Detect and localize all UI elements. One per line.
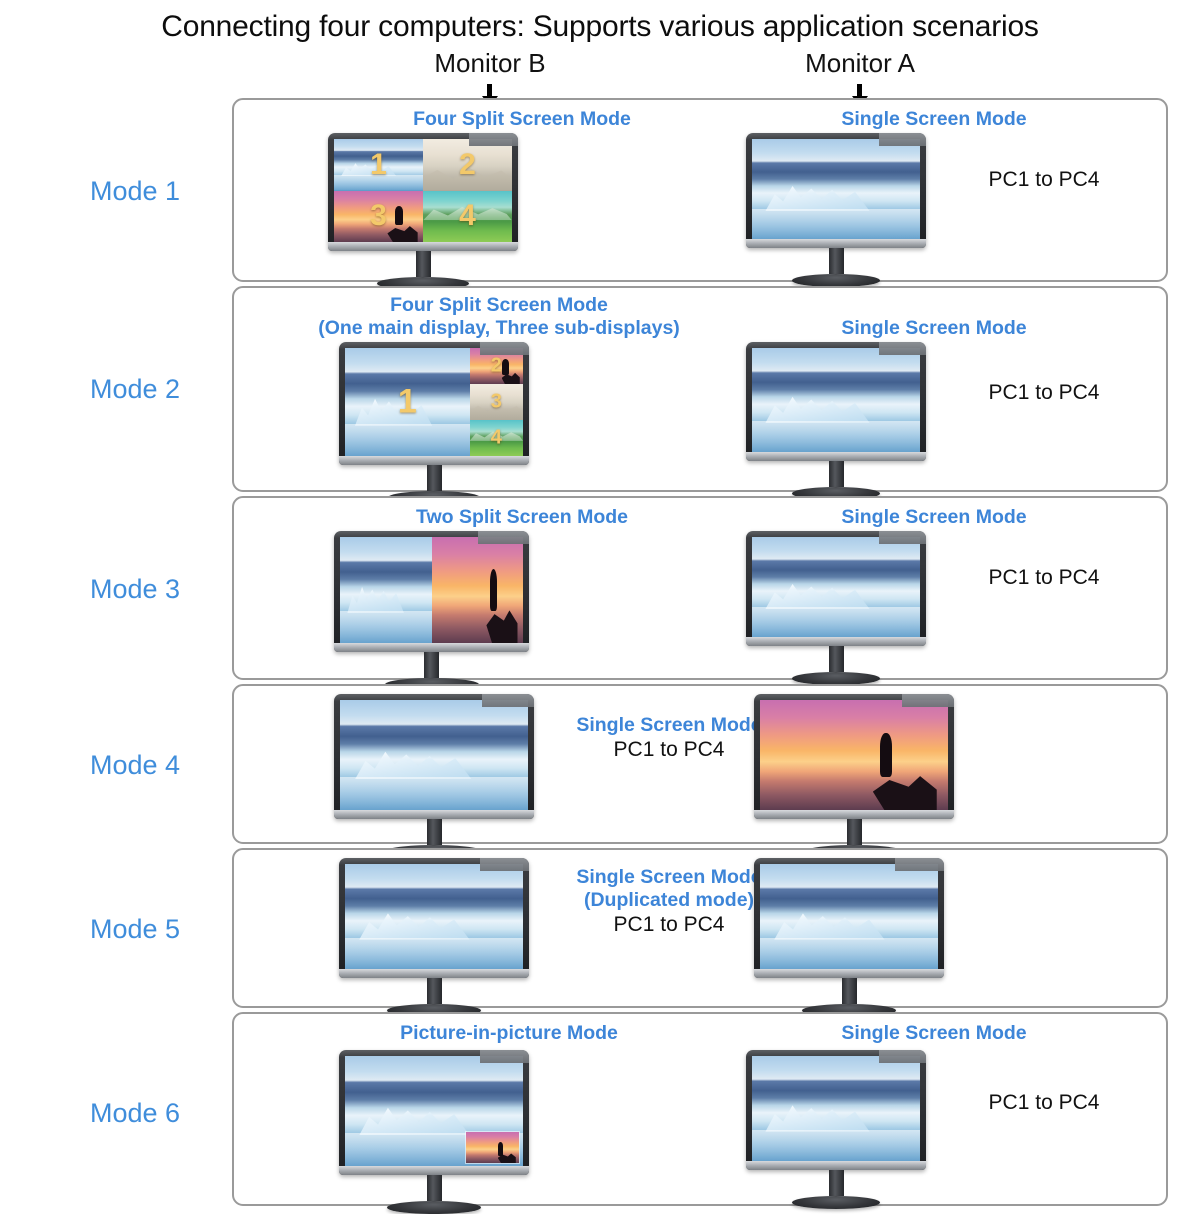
monitor-b-mode4: [334, 694, 534, 858]
pane-left: [340, 537, 432, 643]
mode-label-6: Mode 6: [40, 1098, 230, 1129]
screen-scene: [760, 864, 938, 969]
pane-2: 2: [423, 139, 512, 191]
mode2-left-title-line2: (One main display, Three sub-displays): [244, 317, 754, 340]
page-title: Connecting four computers: Supports vari…: [0, 10, 1200, 44]
mode-row-1: Mode 1 Four Split Screen Mode Single Scr…: [0, 98, 1200, 284]
mode1-pc-text: PC1 to PC4: [934, 167, 1154, 192]
pane-1: 1: [334, 139, 423, 191]
monitor-b-mode6: [339, 1050, 529, 1214]
mode-label-2: Mode 2: [40, 374, 230, 405]
monitor-b-mode2: 1 2 3 4: [339, 342, 529, 504]
monitor-b-mode5: [339, 858, 529, 1017]
mode1-left-title: Four Split Screen Mode: [312, 108, 732, 131]
mode-row-6: Mode 6 Picture-in-picture Mode Single Sc…: [0, 1012, 1200, 1208]
sub-pane-column: 2 3 4: [470, 348, 523, 456]
monitor-a-mode3: [746, 531, 926, 685]
picture-in-picture-inset: [465, 1131, 520, 1164]
mode2-right-title: Single Screen Mode: [724, 317, 1144, 340]
pane-number-2: 2: [423, 148, 512, 182]
screen-scene: [752, 348, 920, 452]
pane-number-1: 1: [334, 148, 423, 182]
pane-main-1: 1: [345, 348, 470, 456]
mode2-left-title: Four Split Screen Mode: [264, 294, 734, 317]
screen-scene-main: [345, 1056, 523, 1166]
screen-scene: [752, 139, 920, 239]
pane-number-4: 4: [423, 199, 512, 233]
pane-number-2: 2: [470, 354, 523, 377]
pane-3: 3: [334, 191, 423, 243]
screen-scene: [345, 864, 523, 969]
pane-right: [432, 537, 524, 643]
mode-panel-1: Four Split Screen Mode Single Screen Mod…: [232, 98, 1168, 282]
screen-scene: [752, 537, 920, 637]
monitor-a-mode5: [754, 858, 944, 1017]
mode-panel-2: Four Split Screen Mode (One main display…: [232, 286, 1168, 492]
page-header: Connecting four computers: Supports vari…: [0, 0, 1200, 94]
mode6-right-title: Single Screen Mode: [724, 1022, 1144, 1045]
pane-number-3: 3: [470, 390, 523, 413]
monitor-b-mode3: [334, 531, 529, 691]
pane-number-4: 4: [470, 426, 523, 449]
monitor-a-mode2: [746, 342, 926, 500]
mode-label-3: Mode 3: [40, 574, 230, 605]
mode-row-4: Mode 4 Single Screen Mode PC1 to PC4: [0, 684, 1200, 846]
pane-number-3: 3: [334, 199, 423, 233]
mode-row-3: Mode 3 Two Split Screen Mode Single Scre…: [0, 496, 1200, 682]
monitor-b-mode1: 1 2 3 4: [328, 133, 518, 290]
mode-panel-5: Single Screen Mode (Duplicated mode) PC1…: [232, 848, 1168, 1008]
mode-row-2: Mode 2 Four Split Screen Mode (One main …: [0, 286, 1200, 494]
pane-number-1: 1: [345, 383, 470, 422]
pane-sub-4: 4: [470, 420, 523, 456]
monitor-a-label: Monitor A: [770, 48, 950, 79]
pane-4: 4: [423, 191, 512, 243]
mode3-pc-text: PC1 to PC4: [934, 565, 1154, 590]
pane-sub-2: 2: [470, 348, 523, 384]
mode-panel-3: Two Split Screen Mode Single Screen Mode: [232, 496, 1168, 680]
mode6-left-title: Picture-in-picture Mode: [294, 1022, 724, 1045]
mode-label-1: Mode 1: [40, 176, 230, 207]
monitor-labels-row: Monitor B Monitor A: [0, 48, 1200, 94]
monitor-b-label: Monitor B: [400, 48, 580, 79]
mode3-left-title: Two Split Screen Mode: [312, 506, 732, 529]
monitor-a-mode4: [754, 694, 954, 858]
mode-rows: Mode 1 Four Split Screen Mode Single Scr…: [0, 98, 1200, 1210]
mode-label-5: Mode 5: [40, 914, 230, 945]
mode-panel-6: Picture-in-picture Mode Single Screen Mo…: [232, 1012, 1168, 1206]
mode1-right-title: Single Screen Mode: [724, 108, 1144, 131]
mode-panel-4: Single Screen Mode PC1 to PC4: [232, 684, 1168, 844]
mode-row-5: Mode 5 Single Screen Mode (Duplicated mo…: [0, 848, 1200, 1010]
mode-label-4: Mode 4: [40, 750, 230, 781]
screen-scene: [760, 700, 948, 810]
pane-sub-3: 3: [470, 384, 523, 420]
mode3-right-title: Single Screen Mode: [724, 506, 1144, 529]
monitor-a-mode6: [746, 1050, 926, 1209]
mode6-pc-text: PC1 to PC4: [934, 1090, 1154, 1115]
screen-scene: [340, 700, 528, 810]
mode2-pc-text: PC1 to PC4: [934, 380, 1154, 405]
screen-scene: [752, 1056, 920, 1161]
monitor-a-mode1: [746, 133, 926, 287]
